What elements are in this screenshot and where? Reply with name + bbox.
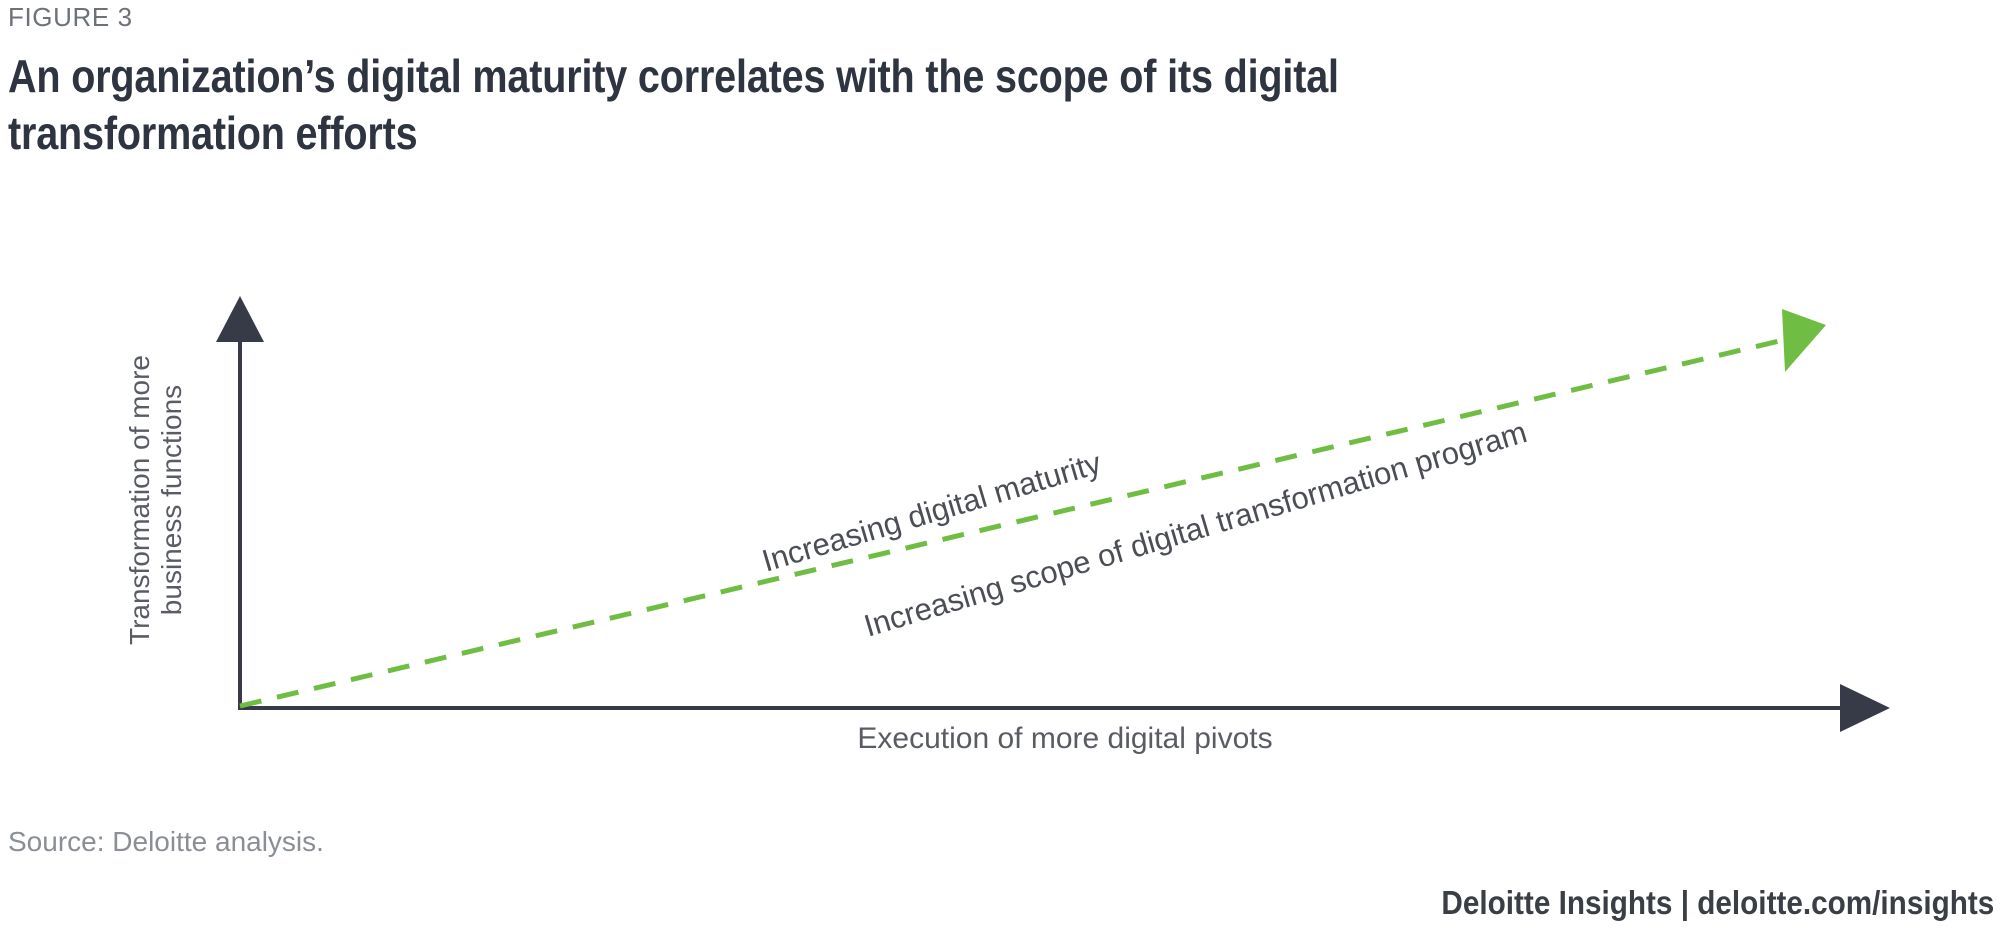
trend-line-dashed (240, 338, 1792, 706)
trend-line-arrowhead (1782, 309, 1826, 372)
chart-plot-area (0, 0, 2000, 935)
figure-container: FIGURE 3 An organization’s digital matur… (0, 0, 2000, 935)
y-axis-arrowhead (216, 296, 264, 342)
x-axis-label: Execution of more digital pivots (240, 722, 1890, 756)
source-note: Source: Deloitte analysis. (8, 826, 324, 858)
brand-footer: Deloitte Insights | deloitte.com/insight… (1441, 884, 1994, 922)
